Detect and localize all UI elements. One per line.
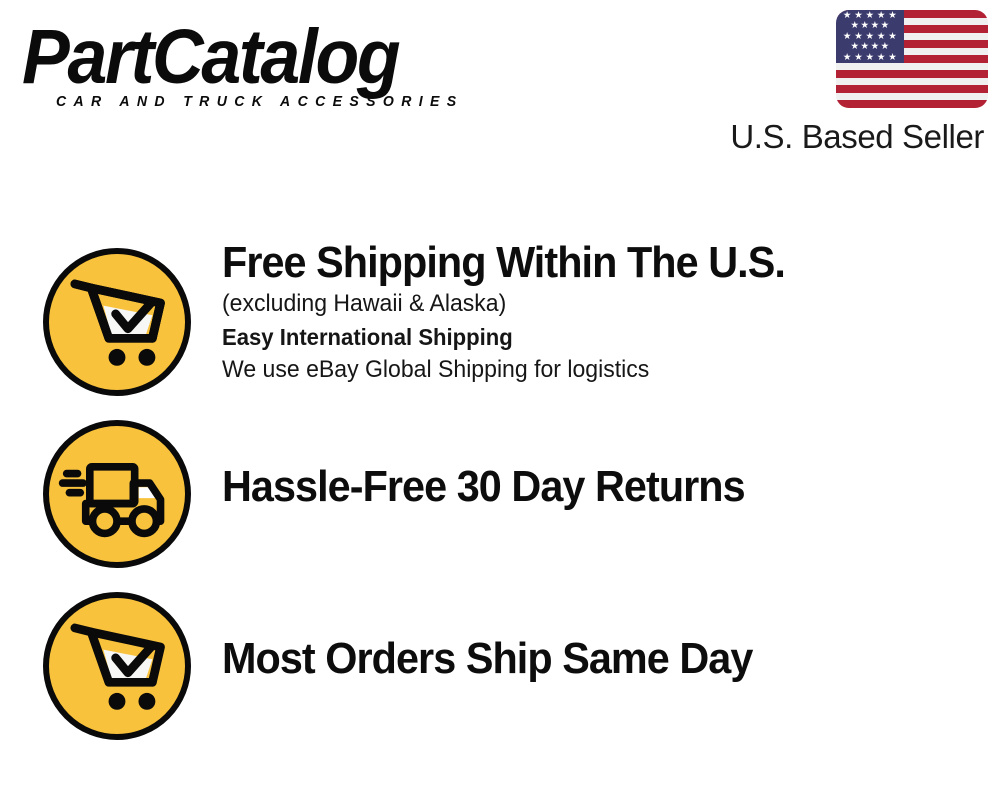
feature-headline: Free Shipping Within The U.S. <box>222 238 946 288</box>
us-flag-icon: ★★★★★ ★★★★ ★★★★★ ★★★★ ★★★★★ <box>836 10 988 108</box>
feature-row-same-day-ship: Most Orders Ship Same Day <box>0 580 1000 752</box>
page-header: PartCatalog CAR AND TRUCK ACCESSORIES ★★… <box>0 0 1000 180</box>
feature-subtext-logistics: We use eBay Global Shipping for logistic… <box>222 354 961 386</box>
shopping-cart-check-icon <box>43 592 191 740</box>
feature-subtext-exclusions: (excluding Hawaii & Alaska) <box>222 288 961 320</box>
us-based-seller-block: ★★★★★ ★★★★ ★★★★★ ★★★★ ★★★★★ U.S. Based S… <box>716 10 988 156</box>
brand-wordmark: PartCatalog <box>22 18 459 96</box>
flag-canton: ★★★★★ ★★★★ ★★★★★ ★★★★ ★★★★★ <box>836 10 904 63</box>
delivery-truck-icon <box>43 420 191 568</box>
feature-list: Free Shipping Within The U.S. (excluding… <box>0 236 1000 752</box>
shopping-cart-check-icon <box>43 248 191 396</box>
brand-tagline: CAR AND TRUCK ACCESSORIES <box>56 94 464 110</box>
feature-headline: Hassle-Free 30 Day Returns <box>222 462 946 512</box>
feature-subtext-international: Easy International Shipping <box>222 320 961 354</box>
brand-logo[interactable]: PartCatalog CAR AND TRUCK ACCESSORIES <box>22 18 492 118</box>
feature-text-same-day-ship: Most Orders Ship Same Day <box>222 634 992 684</box>
feature-row-free-shipping: Free Shipping Within The U.S. (excluding… <box>0 236 1000 408</box>
feature-text-returns: Hassle-Free 30 Day Returns <box>222 462 992 512</box>
feature-text-free-shipping: Free Shipping Within The U.S. (excluding… <box>222 238 992 386</box>
seller-location-label: U.S. Based Seller <box>716 118 988 156</box>
feature-headline: Most Orders Ship Same Day <box>222 634 946 684</box>
feature-row-returns: Hassle-Free 30 Day Returns <box>0 408 1000 580</box>
